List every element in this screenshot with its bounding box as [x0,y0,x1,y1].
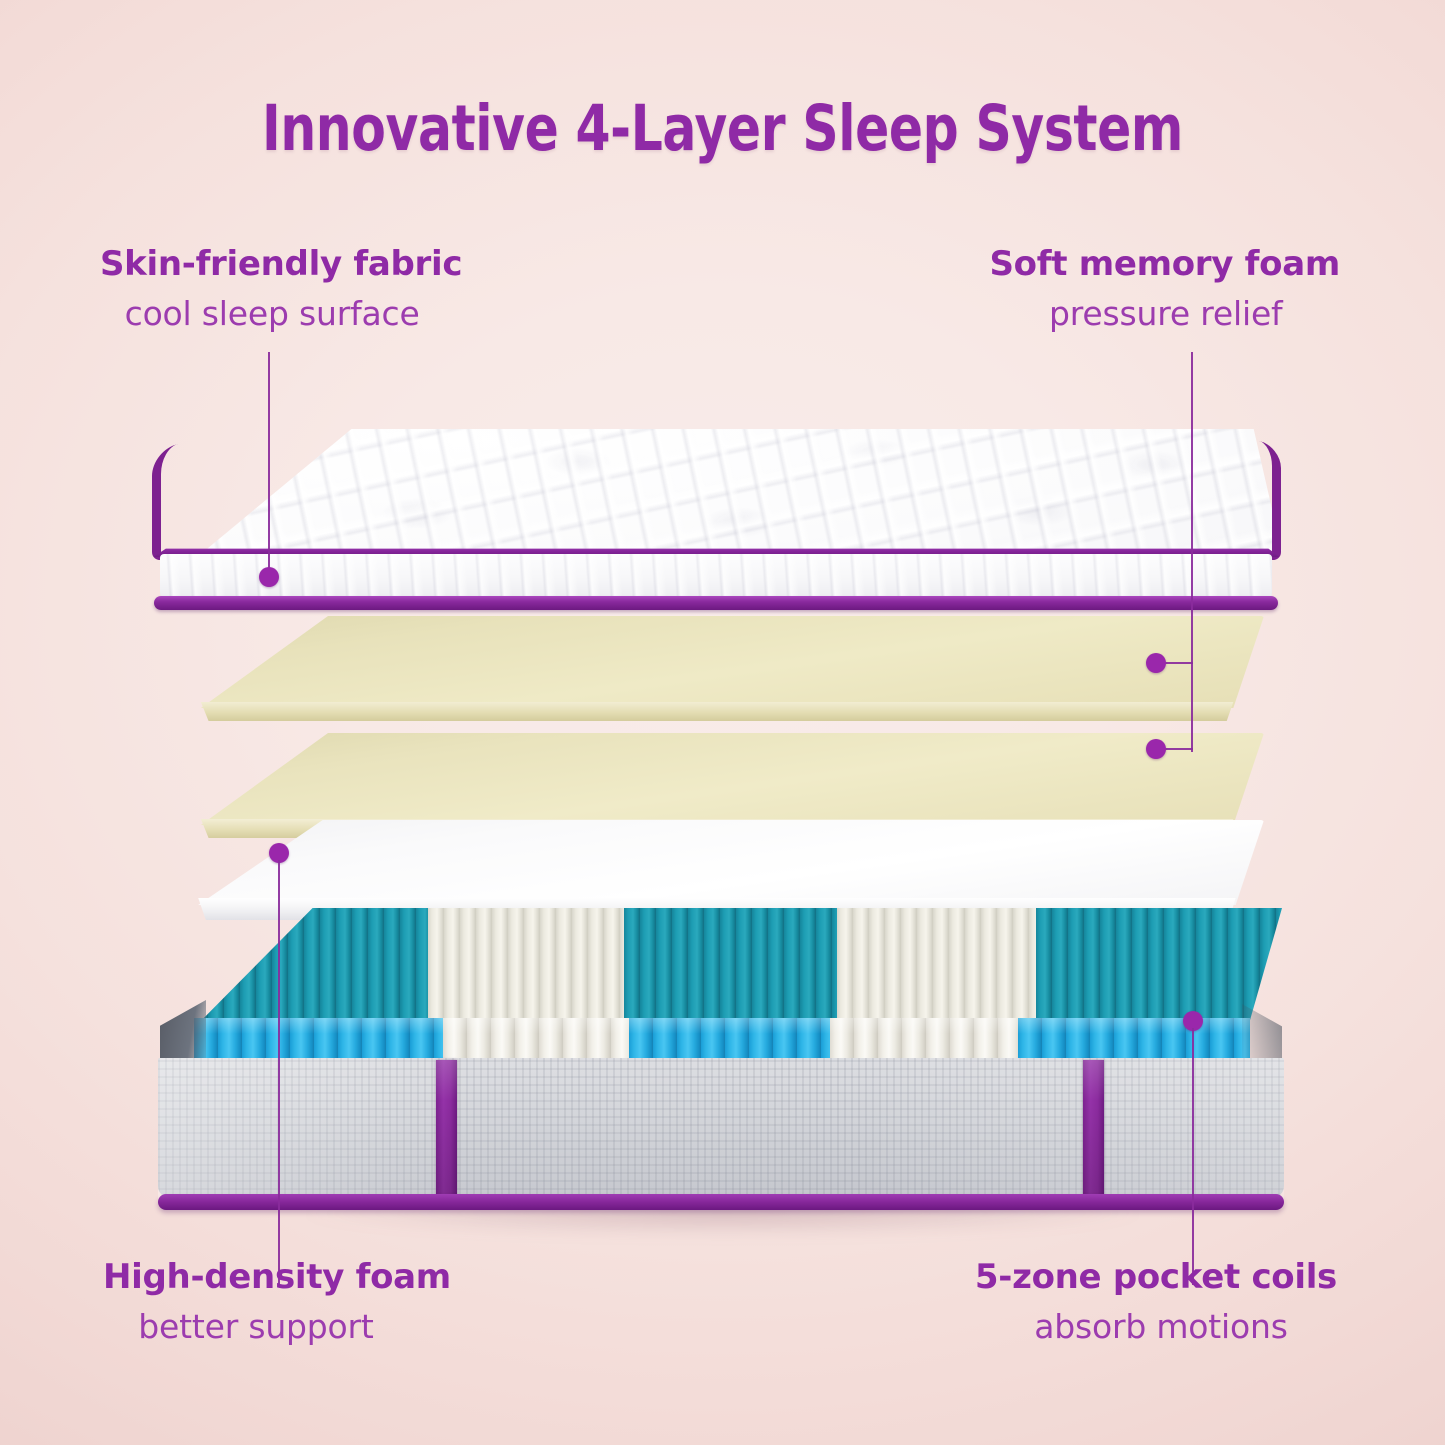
callout-head-high-density-foam: High-density foam [103,1258,451,1296]
callout-sub-skin-friendly-fabric: cool sleep surface [100,296,462,333]
coil-top-plane [160,908,1282,1026]
quilt-texture [150,428,1282,553]
callout-dot-fabric [259,567,279,587]
callout-skin-friendly-fabric: Skin-friendly fabric cool sleep surface [100,245,462,333]
leader-line-memory [1191,352,1193,752]
quilted-top-side [160,554,1272,602]
leader-stub-memory-lower [1165,748,1193,750]
callout-head-skin-friendly-fabric: Skin-friendly fabric [100,245,462,283]
piping-bottom [158,1194,1284,1210]
memory-foam-upper-surface [168,616,1264,708]
quilted-top-surface [150,428,1282,553]
coil-zone-4 [837,908,1036,1026]
leader-stub-memory-upper [1165,662,1193,664]
callout-sub-pocket-coils: absorb motions [975,1309,1337,1346]
side-texture [160,554,1272,602]
callout-sub-soft-memory-foam: pressure relief [990,296,1341,333]
layer-memory-foam-lower [168,733,1264,825]
high-density-foam-surface [172,820,1264,905]
callout-head-soft-memory-foam: Soft memory foam [990,245,1341,283]
callout-sub-high-density-foam: better support [103,1309,451,1346]
callout-dot-memory-upper [1146,653,1166,673]
layer-quilted-top [150,428,1282,613]
piping-corner-right [1255,440,1281,562]
leader-line-fabric [268,352,270,574]
side-handle-right [1083,1060,1104,1197]
infographic-canvas: Innovative 4-Layer Sleep System [0,0,1445,1445]
callout-high-density-foam: High-density foam better support [103,1258,451,1346]
callout-pocket-coils: 5-zone pocket coils absorb motions [975,1258,1337,1346]
leader-line-pocket-coils [1192,1028,1194,1285]
callout-head-pocket-coils: 5-zone pocket coils [975,1258,1337,1296]
layer-high-density-foam [172,820,1264,905]
piping-lower [154,596,1278,610]
base-sheen [158,1058,1284,1210]
layer-pocket-coils [160,908,1282,1073]
callout-dot-memory-lower [1146,739,1166,759]
coil-zone-2 [428,908,624,1026]
callout-soft-memory-foam: Soft memory foam pressure relief [990,245,1341,333]
mattress-base [158,1058,1284,1210]
coil-zone-3 [624,908,837,1026]
side-handle-left [436,1060,457,1197]
piping-corner-left [152,444,178,562]
memory-foam-upper-edge [168,702,1264,721]
memory-foam-lower-surface [168,733,1264,825]
exploded-mattress-diagram [0,0,1445,1445]
leader-line-high-density-foam [278,860,280,1285]
layer-memory-foam-upper [168,616,1264,708]
